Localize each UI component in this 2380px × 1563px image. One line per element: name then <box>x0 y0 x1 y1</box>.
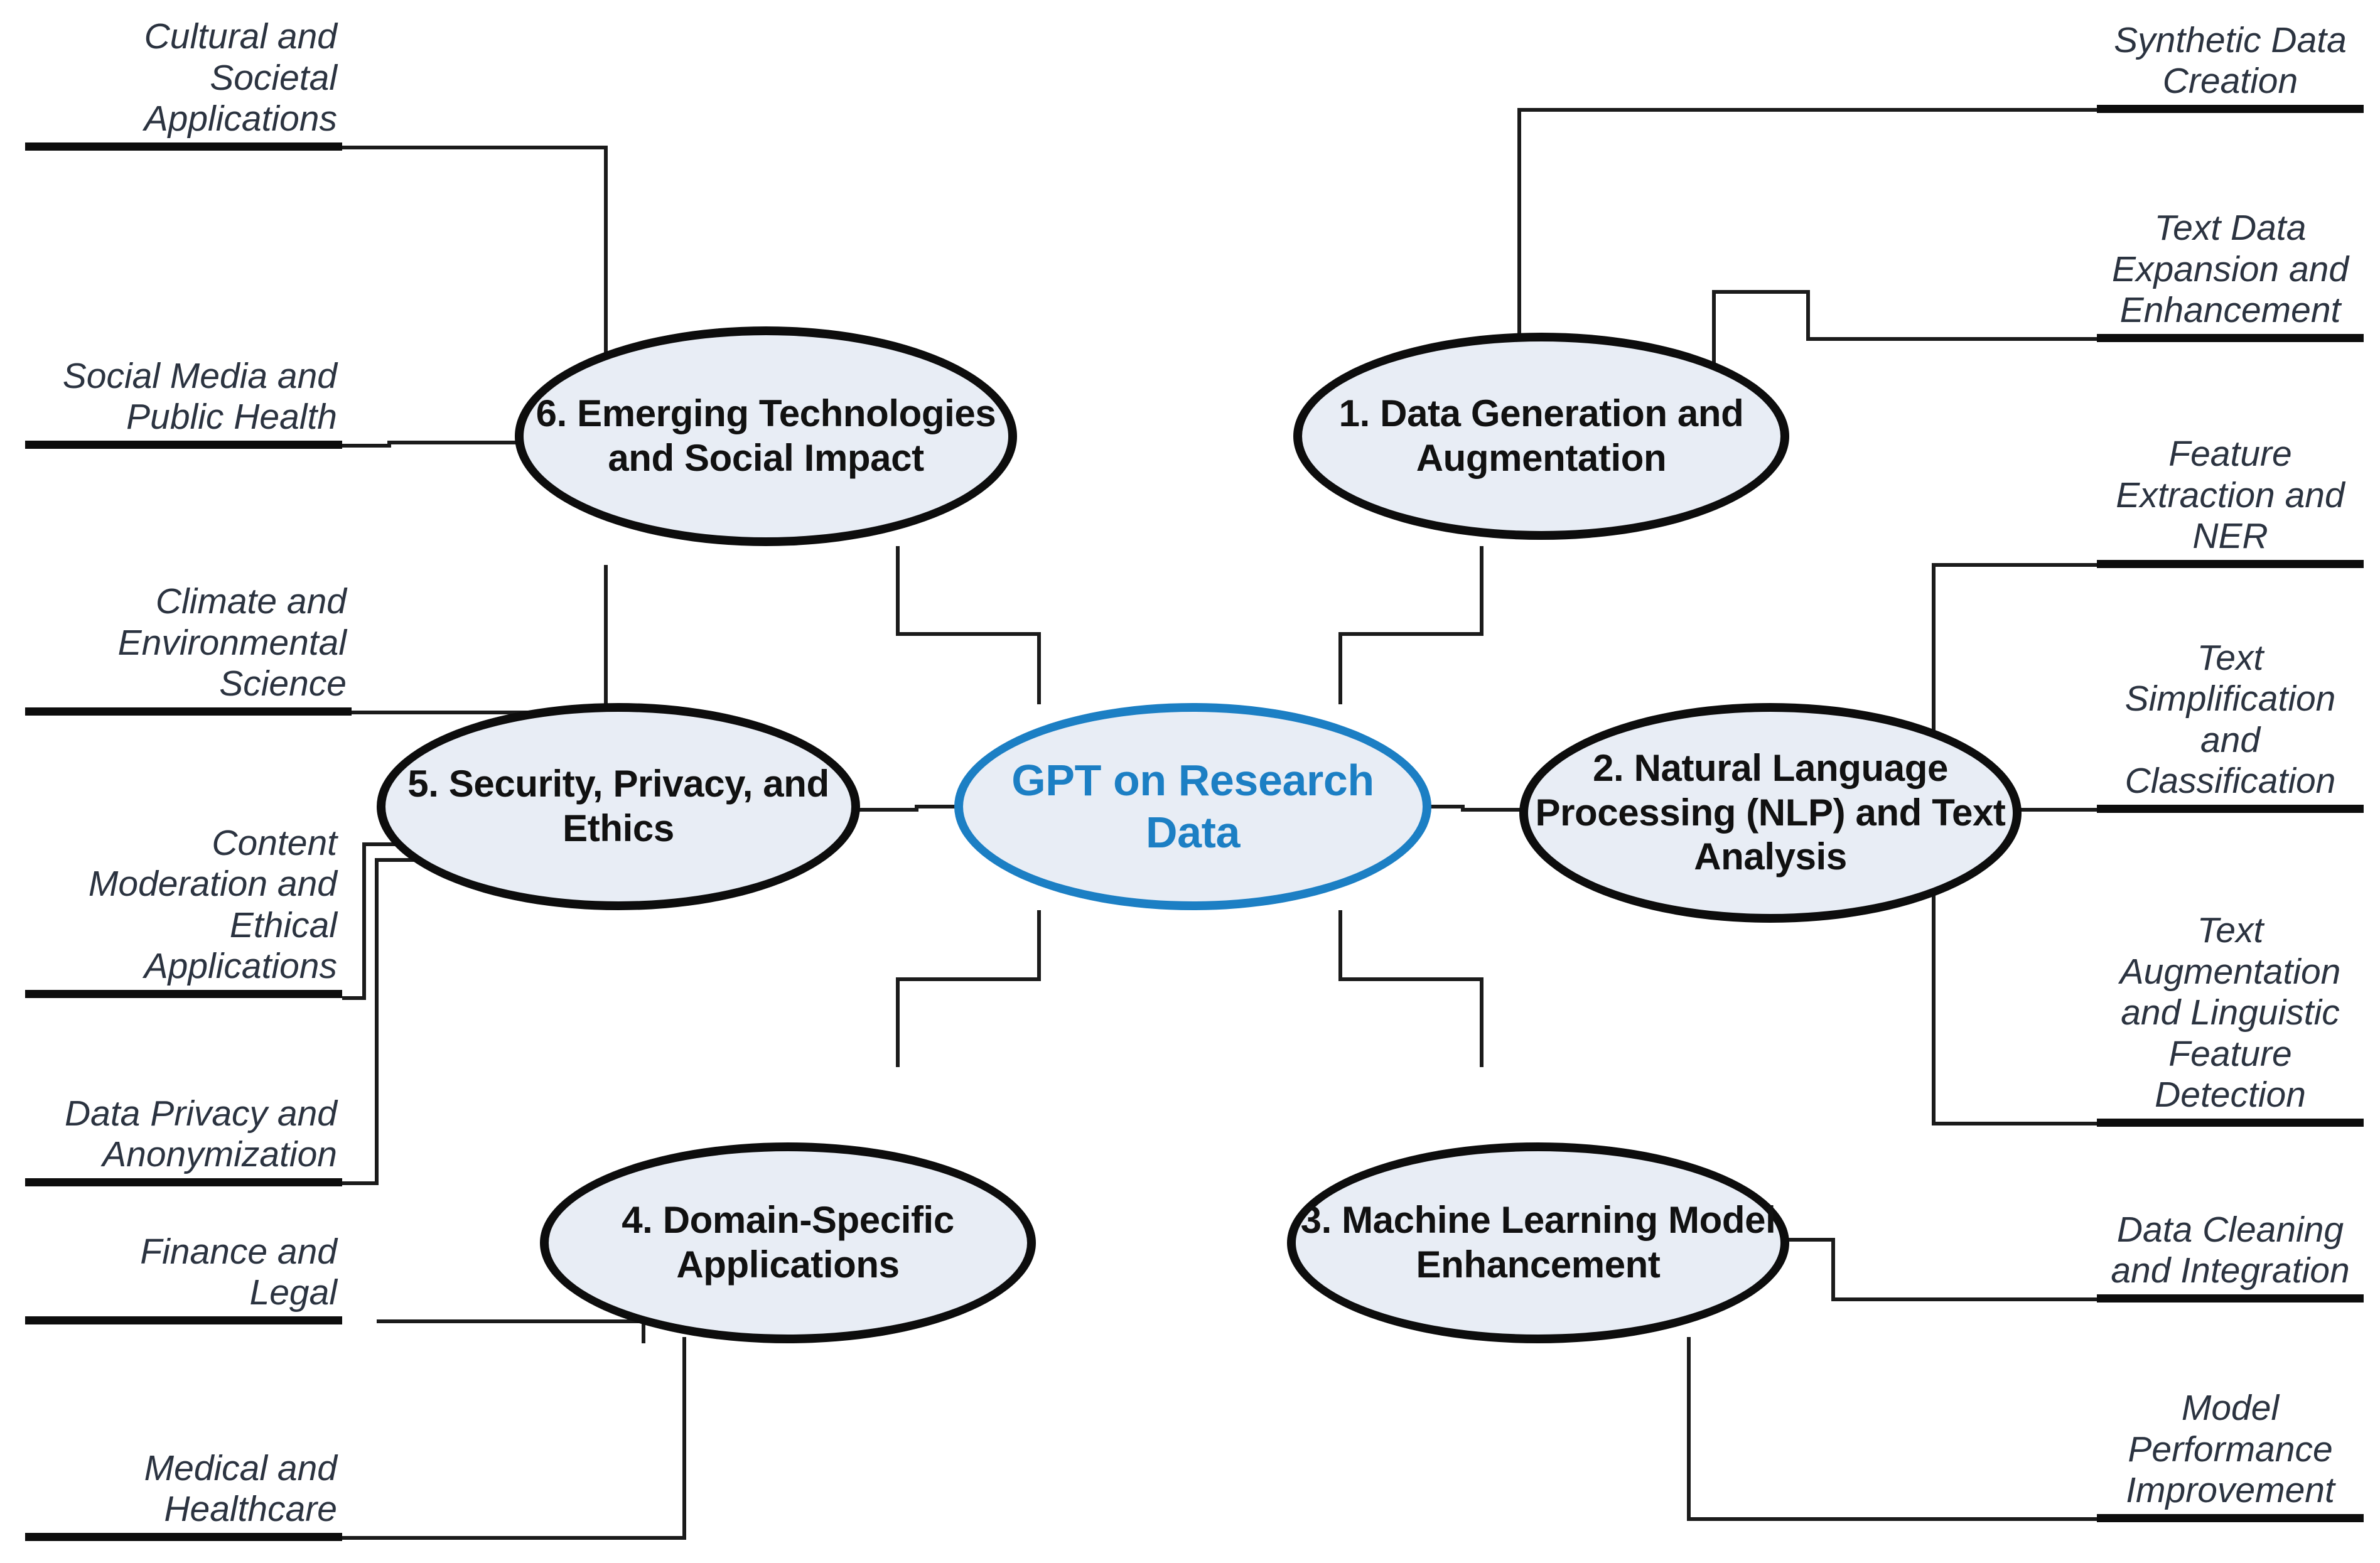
leaf-text-augmentation-and-linguistic-feature-detection[interactable]: Text Augmentation and Linguistic Feature… <box>2097 863 2364 1127</box>
leaf-synthetic-data-creation[interactable]: Synthetic Data Creation <box>2097 0 2364 113</box>
leaf-synthetic-data-creation-label: Synthetic Data Creation <box>2097 20 2364 105</box>
mind-map-canvas: GPT on Research Data 1. Data Generation … <box>0 0 2380 1563</box>
leaf-cultural-and-societal-applications-label: Cultural and Societal Applications <box>25 16 342 142</box>
leaf-text-simplification-and-classification-label: Text Simplification and Classification <box>2097 638 2364 805</box>
leaf-climate-and-environmental-science[interactable]: Climate and Environmental Science <box>25 565 352 716</box>
branch-node-5-security-privacy-and-ethics[interactable]: 5. Security, Privacy, and Ethics <box>377 703 860 910</box>
branch-node-1-data-generation-and-augmentation[interactable]: 1. Data Generation and Augmentation <box>1293 333 1789 540</box>
leaf-data-privacy-and-anonymization[interactable]: Data Privacy and Anonymization <box>25 1067 342 1186</box>
leaf-content-moderation-and-ethical-applications-label: Content Moderation and Ethical Applicati… <box>25 823 342 990</box>
leaf-underline <box>2097 560 2364 568</box>
leaf-underline <box>2097 105 2364 113</box>
leaf-finance-and-legal[interactable]: Finance and Legal <box>25 1205 342 1324</box>
leaf-text-data-expansion-and-enhancement-label: Text Data Expansion and Enhancement <box>2097 208 2364 334</box>
leaf-underline <box>25 1316 342 1324</box>
leaf-social-media-and-public-health[interactable]: Social Media and Public Health <box>25 333 342 449</box>
leaf-medical-and-healthcare[interactable]: Medical and Healthcare <box>25 1422 342 1541</box>
leaf-social-media-and-public-health-label: Social Media and Public Health <box>25 356 342 441</box>
branch-node-2-label: 2. Natural Language Processing (NLP) and… <box>1528 746 2013 879</box>
branch-node-5-label: 5. Security, Privacy, and Ethics <box>385 762 851 851</box>
leaf-model-performance-improvement-label: Model Performance Improvement <box>2097 1388 2364 1514</box>
leaf-feature-extraction-and-ner[interactable]: Feature Extraction and NER <box>2097 411 2364 568</box>
branch-node-6-emerging-technologies-and-social-impact[interactable]: 6. Emerging Technologies and Social Impa… <box>515 326 1017 546</box>
leaf-underline <box>2097 805 2364 813</box>
leaf-data-privacy-and-anonymization-label: Data Privacy and Anonymization <box>25 1093 342 1178</box>
leaf-model-performance-improvement[interactable]: Model Performance Improvement <box>2097 1365 2364 1522</box>
leaf-finance-and-legal-label: Finance and Legal <box>25 1232 342 1316</box>
branch-node-4-label: 4. Domain-Specific Applications <box>549 1198 1027 1287</box>
branch-node-3-machine-learning-model-enhancement[interactable]: 3. Machine Learning Model Enhancement <box>1287 1142 1789 1343</box>
leaf-underline <box>2097 1294 2364 1302</box>
leaf-text-data-expansion-and-enhancement[interactable]: Text Data Expansion and Enhancement <box>2097 188 2364 342</box>
branch-node-6-label: 6. Emerging Technologies and Social Impa… <box>524 392 1008 481</box>
branch-node-2-nlp-and-text-analysis[interactable]: 2. Natural Language Processing (NLP) and… <box>1519 703 2022 923</box>
branch-node-3-label: 3. Machine Learning Model Enhancement <box>1296 1198 1780 1287</box>
leaf-climate-and-environmental-science-label: Climate and Environmental Science <box>25 581 352 707</box>
leaf-underline <box>25 990 342 998</box>
leaf-underline <box>25 441 342 449</box>
leaf-text-augmentation-and-linguistic-feature-detection-label: Text Augmentation and Linguistic Feature… <box>2097 910 2364 1119</box>
leaf-underline <box>2097 334 2364 342</box>
leaf-underline <box>25 142 342 151</box>
branch-node-1-label: 1. Data Generation and Augmentation <box>1302 392 1780 481</box>
leaf-text-simplification-and-classification[interactable]: Text Simplification and Classification <box>2097 599 2364 813</box>
leaf-content-moderation-and-ethical-applications[interactable]: Content Moderation and Ethical Applicati… <box>25 803 342 998</box>
leaf-medical-and-healthcare-label: Medical and Healthcare <box>25 1448 342 1533</box>
root-node-gpt-on-research-data[interactable]: GPT on Research Data <box>954 703 1431 910</box>
branch-node-4-domain-specific-applications[interactable]: 4. Domain-Specific Applications <box>540 1142 1036 1343</box>
leaf-underline <box>25 1178 342 1186</box>
leaf-underline <box>25 707 352 716</box>
leaf-data-cleaning-and-integration[interactable]: Data Cleaning and Integration <box>2097 1186 2364 1302</box>
leaf-underline <box>2097 1119 2364 1127</box>
leaf-data-cleaning-and-integration-label: Data Cleaning and Integration <box>2097 1210 2364 1294</box>
leaf-underline <box>25 1533 342 1541</box>
leaf-underline <box>2097 1514 2364 1522</box>
leaf-cultural-and-societal-applications[interactable]: Cultural and Societal Applications <box>25 0 342 151</box>
leaf-feature-extraction-and-ner-label: Feature Extraction and NER <box>2097 434 2364 560</box>
root-node-label: GPT on Research Data <box>963 755 1423 858</box>
